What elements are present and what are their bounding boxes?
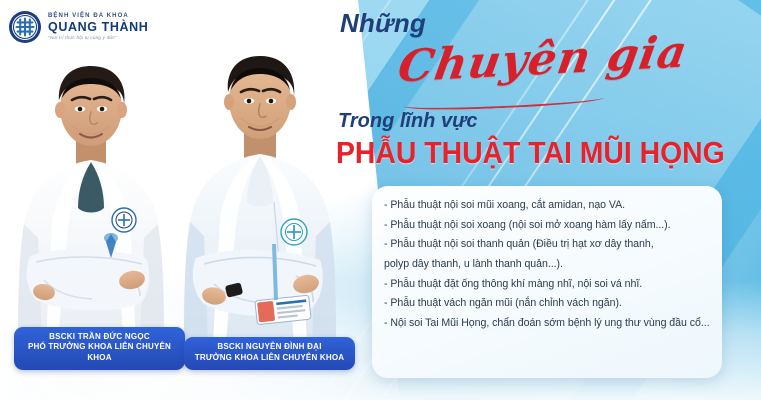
doctor-name: BSCKI TRẦN ĐỨC NGỌC [22, 332, 177, 343]
list-item: - Phẫu thuật nội soi mũi xoang, cắt amid… [384, 197, 708, 213]
doctor-nameplate-left: BSCKI TRẦN ĐỨC NGỌC PHÓ TRƯỞNG KHOA LIÊN… [14, 327, 185, 370]
doctor-portrait-left [6, 42, 176, 342]
doctor-name: BSCKI NGUYỄN ĐÌNH ĐẠI [192, 342, 347, 353]
services-list: - Phẫu thuật nội soi mũi xoang, cắt amid… [372, 186, 722, 331]
doctor-portrait-right [170, 32, 350, 342]
headline-line-3: Trong lĩnh vực [338, 110, 477, 133]
banner-root: BỆNH VIỆN ĐA KHOA QUANG THÀNH "Nơi trí t… [0, 0, 761, 400]
doctor-title: TRƯỞNG KHOA LIÊN CHUYÊN KHOA [192, 353, 347, 364]
doctor-nameplate-right: BSCKI NGUYỄN ĐÌNH ĐẠI TRƯỞNG KHOA LIÊN C… [184, 337, 355, 370]
services-card: - Phẫu thuật nội soi mũi xoang, cắt amid… [372, 186, 722, 378]
list-item: - Nội soi Tai Mũi Họng, chẩn đoán sớm bệ… [384, 315, 708, 331]
list-item: - Phẫu thuật nội soi thanh quản (Điều tr… [384, 236, 708, 252]
doctor-title: PHÓ TRƯỞNG KHOA LIÊN CHUYÊN KHOA [22, 342, 177, 364]
headline-block: Những Chuyên gia Trong lĩnh vực PHẪU THU… [334, 8, 754, 183]
list-item: - Phẫu thuật nội soi xoang (nội soi mở x… [384, 217, 708, 233]
list-item: - Phẫu thuật đặt ống thông khí màng nhĩ,… [384, 276, 708, 292]
page-title: PHẪU THUẬT TAI MŨI HỌNG [336, 136, 725, 171]
list-item: - Phẫu thuật vách ngăn mũi (nắn chỉnh vá… [384, 295, 708, 311]
list-item-continuation: polyp dây thanh, u lành thanh quản...). [384, 256, 708, 272]
